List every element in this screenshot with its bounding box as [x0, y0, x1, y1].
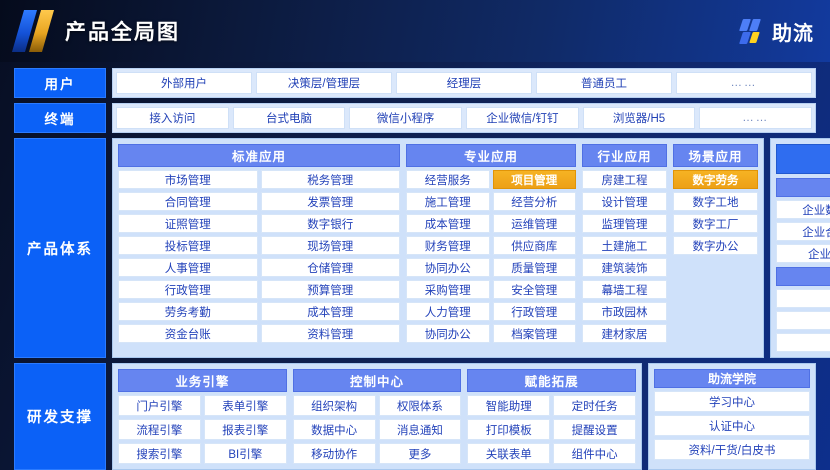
- page-title: 产品全局图: [65, 16, 180, 46]
- product-cell[interactable]: 税务管理: [261, 170, 401, 189]
- product-cell[interactable]: 数字工地: [673, 192, 758, 211]
- product-cell[interactable]: 人力管理: [406, 302, 490, 321]
- rd-cell[interactable]: 组件中心: [553, 443, 636, 464]
- product-group-header[interactable]: 场景应用: [673, 144, 758, 167]
- rd-column: 组织架构数据中心移动协作: [293, 395, 376, 464]
- product-group-header[interactable]: 专业应用: [406, 144, 576, 167]
- product-cell[interactable]: 档案管理: [493, 324, 577, 343]
- service-block: 生态资源BIM法务咨询设计咨询: [776, 267, 830, 352]
- product-cell[interactable]: 经营服务: [406, 170, 490, 189]
- lightning-bolt-icon: [739, 18, 765, 44]
- rd-group-header[interactable]: 赋能拓展: [467, 369, 636, 392]
- product-cell[interactable]: 采购管理: [406, 280, 490, 299]
- terminal-chip[interactable]: ……: [699, 107, 812, 129]
- rd-cell[interactable]: 表单引擎: [204, 395, 287, 416]
- product-cell[interactable]: 土建施工: [582, 236, 667, 255]
- product-cell[interactable]: 建筑装饰: [582, 258, 667, 277]
- product-cell[interactable]: 证照管理: [118, 214, 258, 233]
- product-cell[interactable]: 资金台账: [118, 324, 258, 343]
- product-group-header[interactable]: 标准应用: [118, 144, 400, 167]
- slanted-bars-icon: [18, 10, 52, 52]
- product-cell[interactable]: 发票管理: [261, 192, 401, 211]
- product-cell[interactable]: 财务管理: [406, 236, 490, 255]
- product-cell[interactable]: 经营分析: [493, 192, 577, 211]
- product-cell[interactable]: 数字办公: [673, 236, 758, 255]
- service-item[interactable]: 企业发展战略咨询: [776, 244, 830, 263]
- product-cell[interactable]: 资料管理: [261, 324, 401, 343]
- product-cell-highlighted[interactable]: 项目管理: [493, 170, 577, 189]
- rd-cell[interactable]: 关联表单: [467, 443, 550, 464]
- product-cell[interactable]: 安全管理: [493, 280, 577, 299]
- service-panel: 服务 咨询管理企业数字化转型咨询企业合规化经营咨询企业发展战略咨询生态资源BIM…: [770, 138, 830, 358]
- rd-group-columns: 组织架构数据中心移动协作权限体系消息通知更多: [293, 395, 462, 464]
- rd-cell[interactable]: 消息通知: [379, 419, 462, 440]
- product-cell[interactable]: 数字银行: [261, 214, 401, 233]
- product-cell-highlighted[interactable]: 数字劳务: [673, 170, 758, 189]
- brand-name: 助流: [772, 17, 814, 46]
- product-cell[interactable]: 设计管理: [582, 192, 667, 211]
- product-group-columns: 经营服务施工管理成本管理财务管理协同办公采购管理人力管理协同办公项目管理经营分析…: [406, 170, 576, 352]
- rd-column: 权限体系消息通知更多: [379, 395, 462, 464]
- service-item[interactable]: BIM: [776, 289, 830, 308]
- product-cell[interactable]: 仓储管理: [261, 258, 401, 277]
- user-chip[interactable]: 普通员工: [536, 72, 672, 94]
- product-group-columns: 房建工程设计管理监理管理土建施工建筑装饰幕墙工程市政园林建材家居: [582, 170, 667, 352]
- product-cell[interactable]: 协同办公: [406, 324, 490, 343]
- row-user: 用户 外部用户决策层/管理层经理层普通员工……: [14, 68, 816, 98]
- product-group-columns: 市场管理合同管理证照管理投标管理人事管理行政管理劳务考勤资金台账税务管理发票管理…: [118, 170, 400, 352]
- service-item[interactable]: 企业合规化经营咨询: [776, 222, 830, 241]
- rd-cell[interactable]: 打印模板: [467, 419, 550, 440]
- row-product-system: 产品体系 标准应用市场管理合同管理证照管理投标管理人事管理行政管理劳务考勤资金台…: [14, 138, 816, 358]
- product-cell[interactable]: 成本管理: [261, 302, 401, 321]
- product-cell[interactable]: 行政管理: [118, 280, 258, 299]
- rd-column: 定时任务提醒设置组件中心: [553, 395, 636, 464]
- product-column: 房建工程设计管理监理管理土建施工建筑装饰幕墙工程市政园林建材家居: [582, 170, 667, 352]
- terminal-chip[interactable]: 接入访问: [116, 107, 229, 129]
- rd-column: 门户引擎流程引擎搜索引擎: [118, 395, 201, 464]
- product-cell[interactable]: 市政园林: [582, 302, 667, 321]
- rd-cell[interactable]: BI引擎: [204, 443, 287, 464]
- rd-cell[interactable]: 权限体系: [379, 395, 462, 416]
- academy-item[interactable]: 学习中心: [654, 391, 810, 412]
- rd-group: 赋能拓展智能助理打印模板关联表单定时任务提醒设置组件中心: [467, 369, 636, 464]
- product-column: 项目管理经营分析运维管理供应商库质量管理安全管理行政管理档案管理: [493, 170, 577, 352]
- brand-logo[interactable]: 助流: [739, 17, 814, 46]
- title-block: 产品全局图: [18, 10, 180, 52]
- row-label-user: 用户: [14, 68, 106, 98]
- service-block: 咨询管理企业数字化转型咨询企业合规化经营咨询企业发展战略咨询: [776, 178, 830, 263]
- rd-cell[interactable]: 提醒设置: [553, 419, 636, 440]
- product-cell[interactable]: 行政管理: [493, 302, 577, 321]
- product-column: 经营服务施工管理成本管理财务管理协同办公采购管理人力管理协同办公: [406, 170, 490, 352]
- rd-group: 业务引擎门户引擎流程引擎搜索引擎表单引擎报表引擎BI引擎: [118, 369, 287, 464]
- product-group: 专业应用经营服务施工管理成本管理财务管理协同办公采购管理人力管理协同办公项目管理…: [406, 144, 576, 352]
- product-cell[interactable]: 劳务考勤: [118, 302, 258, 321]
- terminal-chip[interactable]: 微信小程序: [349, 107, 462, 129]
- rd-cell[interactable]: 数据中心: [293, 419, 376, 440]
- rd-cell[interactable]: 定时任务: [553, 395, 636, 416]
- product-cell[interactable]: 合同管理: [118, 192, 258, 211]
- user-chip[interactable]: 外部用户: [116, 72, 252, 94]
- rd-group: 控制中心组织架构数据中心移动协作权限体系消息通知更多: [293, 369, 462, 464]
- academy-panel: 助流学院学习中心认证中心资料/干货/白皮书: [648, 363, 816, 470]
- product-cell[interactable]: 投标管理: [118, 236, 258, 255]
- service-title: 服务: [776, 144, 830, 174]
- terminal-chip[interactable]: 企业微信/钉钉: [466, 107, 579, 129]
- academy-item[interactable]: 认证中心: [654, 415, 810, 436]
- page-header: 产品全局图 助流: [0, 0, 830, 62]
- product-cell[interactable]: 现场管理: [261, 236, 401, 255]
- product-cell[interactable]: 人事管理: [118, 258, 258, 277]
- product-cell[interactable]: 施工管理: [406, 192, 490, 211]
- service-blocks: 咨询管理企业数字化转型咨询企业合规化经营咨询企业发展战略咨询生态资源BIM法务咨…: [776, 178, 830, 352]
- terminal-chip-strip: 接入访问台式电脑微信小程序企业微信/钉钉浏览器/H5……: [112, 103, 816, 133]
- rd-cell[interactable]: 组织架构: [293, 395, 376, 416]
- rd-column: 智能助理打印模板关联表单: [467, 395, 550, 464]
- diagram-body: 用户 外部用户决策层/管理层经理层普通员工…… 终端 接入访问台式电脑微信小程序…: [0, 62, 830, 470]
- rd-cell[interactable]: 移动协作: [293, 443, 376, 464]
- terminal-chip[interactable]: 台式电脑: [233, 107, 346, 129]
- terminal-chip[interactable]: 浏览器/H5: [583, 107, 696, 129]
- product-cell[interactable]: 数字工厂: [673, 214, 758, 233]
- user-chip[interactable]: 经理层: [396, 72, 532, 94]
- row-label-product-system: 产品体系: [14, 138, 106, 358]
- academy-header[interactable]: 助流学院: [654, 369, 810, 388]
- rd-cell[interactable]: 智能助理: [467, 395, 550, 416]
- product-cell[interactable]: 运维管理: [493, 214, 577, 233]
- rd-cell[interactable]: 更多: [379, 443, 462, 464]
- row-label-terminal: 终端: [14, 103, 106, 133]
- product-group: 场景应用数字劳务数字工地数字工厂数字办公: [673, 144, 758, 352]
- product-group: 行业应用房建工程设计管理监理管理土建施工建筑装饰幕墙工程市政园林建材家居: [582, 144, 667, 352]
- product-cell[interactable]: 市场管理: [118, 170, 258, 189]
- product-cell[interactable]: 房建工程: [582, 170, 667, 189]
- product-cell[interactable]: 协同办公: [406, 258, 490, 277]
- academy-item[interactable]: 资料/干货/白皮书: [654, 439, 810, 460]
- service-block-header[interactable]: 咨询管理: [776, 178, 830, 197]
- rd-support-panel: 业务引擎门户引擎流程引擎搜索引擎表单引擎报表引擎BI引擎控制中心组织架构数据中心…: [112, 363, 642, 470]
- product-cell[interactable]: 建材家居: [582, 324, 667, 343]
- rd-cell[interactable]: 流程引擎: [118, 419, 201, 440]
- product-group-columns: 数字劳务数字工地数字工厂数字办公: [673, 170, 758, 352]
- service-item[interactable]: 法务咨询: [776, 311, 830, 330]
- product-cell[interactable]: 质量管理: [493, 258, 577, 277]
- rd-group-header[interactable]: 业务引擎: [118, 369, 287, 392]
- row-label-rd-support: 研发支撑: [14, 363, 106, 470]
- rd-cell[interactable]: 门户引擎: [118, 395, 201, 416]
- service-block-header[interactable]: 生态资源: [776, 267, 830, 286]
- user-chip[interactable]: ……: [676, 72, 812, 94]
- product-cell[interactable]: 成本管理: [406, 214, 490, 233]
- rd-cell[interactable]: 报表引擎: [204, 419, 287, 440]
- rd-cell[interactable]: 搜索引擎: [118, 443, 201, 464]
- product-column: 税务管理发票管理数字银行现场管理仓储管理预算管理成本管理资料管理: [261, 170, 401, 352]
- product-group: 标准应用市场管理合同管理证照管理投标管理人事管理行政管理劳务考勤资金台账税务管理…: [118, 144, 400, 352]
- row-rd-support: 研发支撑 业务引擎门户引擎流程引擎搜索引擎表单引擎报表引擎BI引擎控制中心组织架…: [14, 363, 816, 470]
- product-group-header[interactable]: 行业应用: [582, 144, 667, 167]
- product-column: 市场管理合同管理证照管理投标管理人事管理行政管理劳务考勤资金台账: [118, 170, 258, 352]
- user-chip[interactable]: 决策层/管理层: [256, 72, 392, 94]
- product-cell[interactable]: 预算管理: [261, 280, 401, 299]
- rd-column: 表单引擎报表引擎BI引擎: [204, 395, 287, 464]
- product-column: 数字劳务数字工地数字工厂数字办公: [673, 170, 758, 352]
- rd-group-columns: 智能助理打印模板关联表单定时任务提醒设置组件中心: [467, 395, 636, 464]
- rd-group-header[interactable]: 控制中心: [293, 369, 462, 392]
- rd-group-columns: 门户引擎流程引擎搜索引擎表单引擎报表引擎BI引擎: [118, 395, 287, 464]
- product-system-panel: 标准应用市场管理合同管理证照管理投标管理人事管理行政管理劳务考勤资金台账税务管理…: [112, 138, 764, 358]
- product-cell[interactable]: 供应商库: [493, 236, 577, 255]
- row-terminal: 终端 接入访问台式电脑微信小程序企业微信/钉钉浏览器/H5……: [14, 103, 816, 133]
- service-item[interactable]: 企业数字化转型咨询: [776, 200, 830, 219]
- service-item[interactable]: 设计咨询: [776, 333, 830, 352]
- product-cell[interactable]: 幕墙工程: [582, 280, 667, 299]
- product-overview-page: 产品全局图 助流 用户 外部用户决策层/管理层经理层普通员工…… 终端 接入访问…: [0, 0, 830, 470]
- product-cell[interactable]: 监理管理: [582, 214, 667, 233]
- user-chip-strip: 外部用户决策层/管理层经理层普通员工……: [112, 68, 816, 98]
